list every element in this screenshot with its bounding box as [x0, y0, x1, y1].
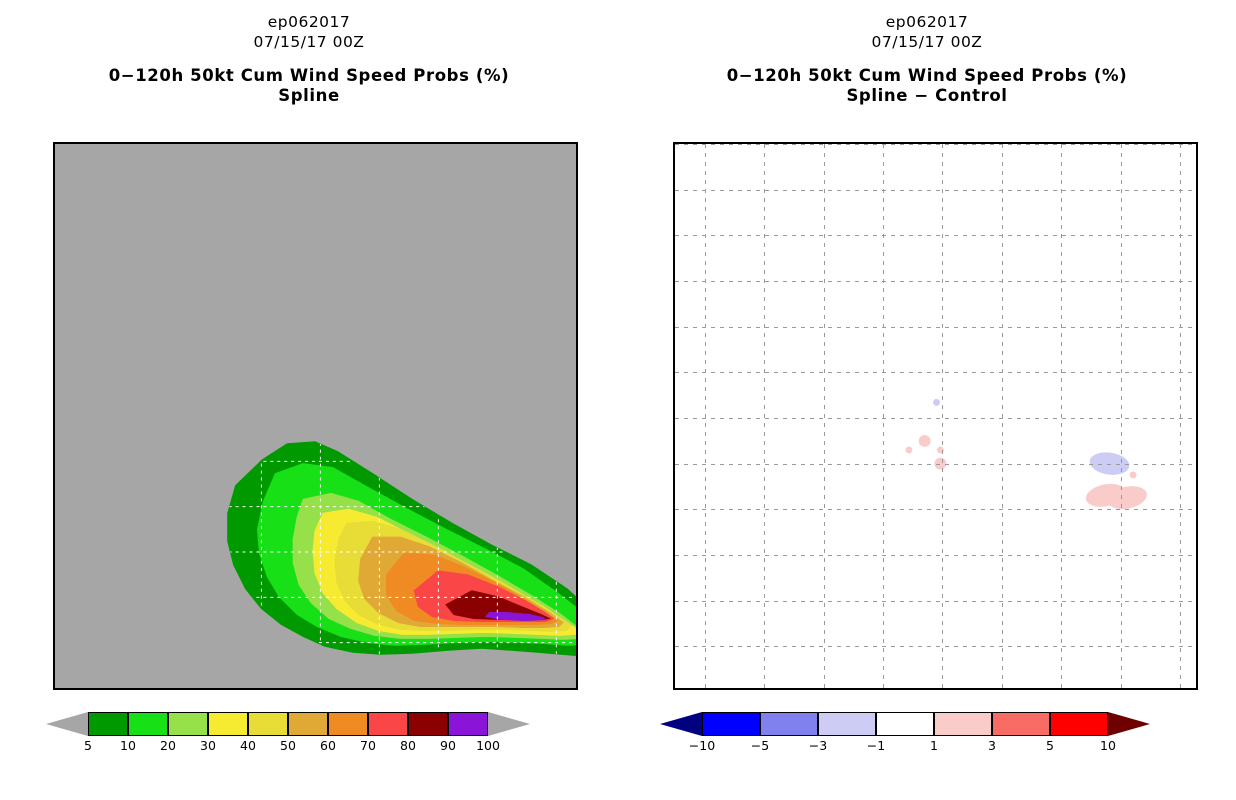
y-tick-label: 14N	[53, 412, 55, 424]
x-tick-label: 129W	[367, 688, 397, 690]
y-tick-label: 2N	[53, 686, 55, 690]
x-tick-mark	[262, 688, 264, 690]
gridline-lon	[705, 144, 706, 688]
y-tick-label: 6N	[53, 595, 55, 607]
x-tick-label: 141W	[129, 688, 159, 690]
colorbar-cap-low	[660, 712, 702, 736]
colorbar-tick-label: 30	[200, 738, 216, 753]
colorbar-difference[interactable]: −10−5−3−113510	[660, 712, 1200, 772]
colorbar-difference-swatches	[660, 712, 1150, 736]
y-tick-label: 10N	[53, 503, 55, 515]
x-tick-label: 120W	[545, 688, 575, 690]
x-tick-mark	[500, 688, 502, 690]
y-tick-label: 2N	[673, 686, 675, 690]
storm-id-right: ep062017	[618, 12, 1236, 32]
y-tick-label: 6N	[673, 595, 675, 607]
y-tick-label: 16N	[53, 366, 55, 378]
colorbar-swatch-3	[208, 712, 248, 736]
x-tick-mark	[882, 688, 884, 690]
x-tick-label: 126W	[426, 688, 456, 690]
gridline-lon	[1180, 144, 1181, 688]
x-tick-mark	[84, 688, 86, 690]
panel-spline: ep062017 07/15/17 00Z 0−120h 50kt Cum Wi…	[0, 0, 618, 800]
colorbar-tick-label: 3	[988, 738, 996, 753]
y-tick-label: 8N	[53, 549, 55, 561]
colorbar-swatch-4	[248, 712, 288, 736]
y-tick-label: 26N	[53, 142, 55, 150]
colorbar-tick-label: 5	[84, 738, 92, 753]
colorbar-swatch-6	[1050, 712, 1108, 736]
x-tick-label: 132W	[927, 688, 957, 690]
gridline-lon	[824, 144, 825, 688]
gridline-lat	[675, 144, 1196, 145]
colorbar-tick-label: 70	[360, 738, 376, 753]
y-tick-label: 14N	[673, 412, 675, 424]
x-tick-mark	[559, 688, 561, 690]
y-tick-label: 4N	[673, 640, 675, 652]
colorbar-swatch-5	[992, 712, 1050, 736]
difference-feature	[933, 398, 941, 406]
colorbar-swatch-0	[88, 712, 128, 736]
y-tick-label: 12N	[53, 458, 55, 470]
panel-title-block-right: ep062017 07/15/17 00Z 0−120h 50kt Cum Wi…	[618, 12, 1236, 106]
gridline-lon	[764, 144, 765, 688]
x-tick-mark	[1179, 688, 1181, 690]
colorbar-swatch-4	[934, 712, 992, 736]
x-tick-label: 144W	[69, 688, 99, 690]
panel-spline-minus-control: ep062017 07/15/17 00Z 0−120h 50kt Cum Wi…	[618, 0, 1236, 800]
colorbar-probability[interactable]: 5102030405060708090100	[46, 712, 586, 772]
colorbar-swatch-1	[128, 712, 168, 736]
x-tick-label: 135W	[248, 688, 278, 690]
difference-feature	[905, 446, 913, 454]
y-tick-label: 20N	[53, 275, 55, 287]
y-tick-label: 8N	[673, 549, 675, 561]
y-tick-label: 18N	[673, 321, 675, 333]
gridline-lat	[675, 372, 1196, 373]
x-tick-label: 141W	[749, 688, 779, 690]
colorbar-tick-label: 5	[1046, 738, 1054, 753]
datetime-right: 07/15/17 00Z	[618, 32, 1236, 52]
colorbar-tick-label: 10	[1100, 738, 1116, 753]
colorbar-cap-high	[488, 712, 530, 736]
colorbar-swatch-1	[760, 712, 818, 736]
subtitle-right: Spline − Control	[618, 86, 1236, 106]
colorbar-swatch-6	[328, 712, 368, 736]
colorbar-tick-label: −5	[751, 738, 769, 753]
difference-feature	[1129, 471, 1137, 479]
colorbar-swatch-3	[876, 712, 934, 736]
x-tick-mark	[942, 688, 944, 690]
x-tick-label: 120W	[1165, 688, 1195, 690]
x-tick-label: 138W	[188, 688, 218, 690]
colorbar-tick-label: 60	[320, 738, 336, 753]
colorbar-tick-label: −10	[689, 738, 715, 753]
x-tick-label: 126W	[1046, 688, 1076, 690]
subtitle-left: Spline	[0, 86, 618, 106]
x-tick-label: 132W	[307, 688, 337, 690]
y-tick-label: 24N	[673, 184, 675, 196]
gridline-lat	[675, 646, 1196, 647]
gridline-lat	[675, 327, 1196, 328]
gridline-lat	[675, 509, 1196, 510]
map-plot-difference[interactable]: 2N4N6N8N10N12N14N16N18N20N22N24N26N144W1…	[673, 142, 1198, 690]
y-tick-label: 16N	[673, 366, 675, 378]
colorbar-tick-label: 50	[280, 738, 296, 753]
gridline-lon	[1061, 144, 1062, 688]
product-title-right: 0−120h 50kt Cum Wind Speed Probs (%)	[618, 66, 1236, 86]
colorbar-swatch-2	[168, 712, 208, 736]
y-tick-label: 22N	[53, 229, 55, 241]
colorbar-tick-label: 1	[930, 738, 938, 753]
colorbar-swatch-2	[818, 712, 876, 736]
colorbar-tick-label: −1	[867, 738, 885, 753]
gridline-lat	[675, 235, 1196, 236]
x-tick-mark	[322, 688, 324, 690]
x-tick-label: 129W	[987, 688, 1017, 690]
x-tick-mark	[704, 688, 706, 690]
product-title-left: 0−120h 50kt Cum Wind Speed Probs (%)	[0, 66, 618, 86]
gridline-lon	[1121, 144, 1122, 688]
difference-feature	[918, 434, 932, 448]
colorbar-tick-label: 40	[240, 738, 256, 753]
colorbar-swatch-7	[368, 712, 408, 736]
colorbar-tick-label: 20	[160, 738, 176, 753]
gridline-lat	[675, 418, 1196, 419]
x-tick-label: 123W	[1106, 688, 1136, 690]
x-tick-mark	[1061, 688, 1063, 690]
x-tick-mark	[441, 688, 443, 690]
title-spacer-left	[0, 52, 618, 66]
gridline-lon	[942, 144, 943, 688]
datetime-left: 07/15/17 00Z	[0, 32, 618, 52]
gridline-lat	[675, 281, 1196, 282]
x-tick-mark	[203, 688, 205, 690]
x-tick-mark	[381, 688, 383, 690]
colorbar-cap-high	[1108, 712, 1150, 736]
colorbar-probability-swatches	[46, 712, 530, 736]
x-tick-mark	[1001, 688, 1003, 690]
y-tick-label: 20N	[673, 275, 675, 287]
y-tick-label: 18N	[53, 321, 55, 333]
y-tick-label: 12N	[673, 458, 675, 470]
map-plot-spline[interactable]: 2N4N6N8N10N12N14N16N18N20N22N24N26N144W1…	[53, 142, 578, 690]
y-tick-label: 26N	[673, 142, 675, 150]
probability-contour-field	[55, 144, 576, 688]
colorbar-swatch-0	[702, 712, 760, 736]
x-tick-label: 138W	[808, 688, 838, 690]
panel-title-block-left: ep062017 07/15/17 00Z 0−120h 50kt Cum Wi…	[0, 12, 618, 106]
map-plot-inner-right	[675, 144, 1196, 688]
y-tick-label: 24N	[53, 184, 55, 196]
y-tick-label: 4N	[53, 640, 55, 652]
x-tick-mark	[1120, 688, 1122, 690]
gridline-lat	[675, 555, 1196, 556]
x-tick-label: 123W	[486, 688, 516, 690]
colorbar-swatch-8	[408, 712, 448, 736]
x-tick-label: 144W	[689, 688, 719, 690]
gridline-lat	[675, 464, 1196, 465]
gridline-lon	[1002, 144, 1003, 688]
colorbar-swatch-5	[288, 712, 328, 736]
colorbar-tick-label: 100	[476, 738, 500, 753]
gridline-lon	[883, 144, 884, 688]
figure-root: ep062017 07/15/17 00Z 0−120h 50kt Cum Wi…	[0, 0, 1236, 800]
title-spacer-right	[618, 52, 1236, 66]
x-tick-mark	[143, 688, 145, 690]
x-tick-label: 135W	[868, 688, 898, 690]
y-tick-label: 22N	[673, 229, 675, 241]
x-tick-mark	[823, 688, 825, 690]
colorbar-tick-label: −3	[809, 738, 827, 753]
colorbar-swatch-9	[448, 712, 488, 736]
y-tick-label: 10N	[673, 503, 675, 515]
colorbar-tick-label: 80	[400, 738, 416, 753]
colorbar-tick-label: 10	[120, 738, 136, 753]
storm-id-left: ep062017	[0, 12, 618, 32]
map-plot-inner-left	[55, 144, 576, 688]
colorbar-cap-low	[46, 712, 88, 736]
x-tick-mark	[763, 688, 765, 690]
colorbar-tick-label: 90	[440, 738, 456, 753]
difference-contour-field	[675, 144, 1196, 688]
gridline-lat	[675, 190, 1196, 191]
gridline-lat	[675, 601, 1196, 602]
